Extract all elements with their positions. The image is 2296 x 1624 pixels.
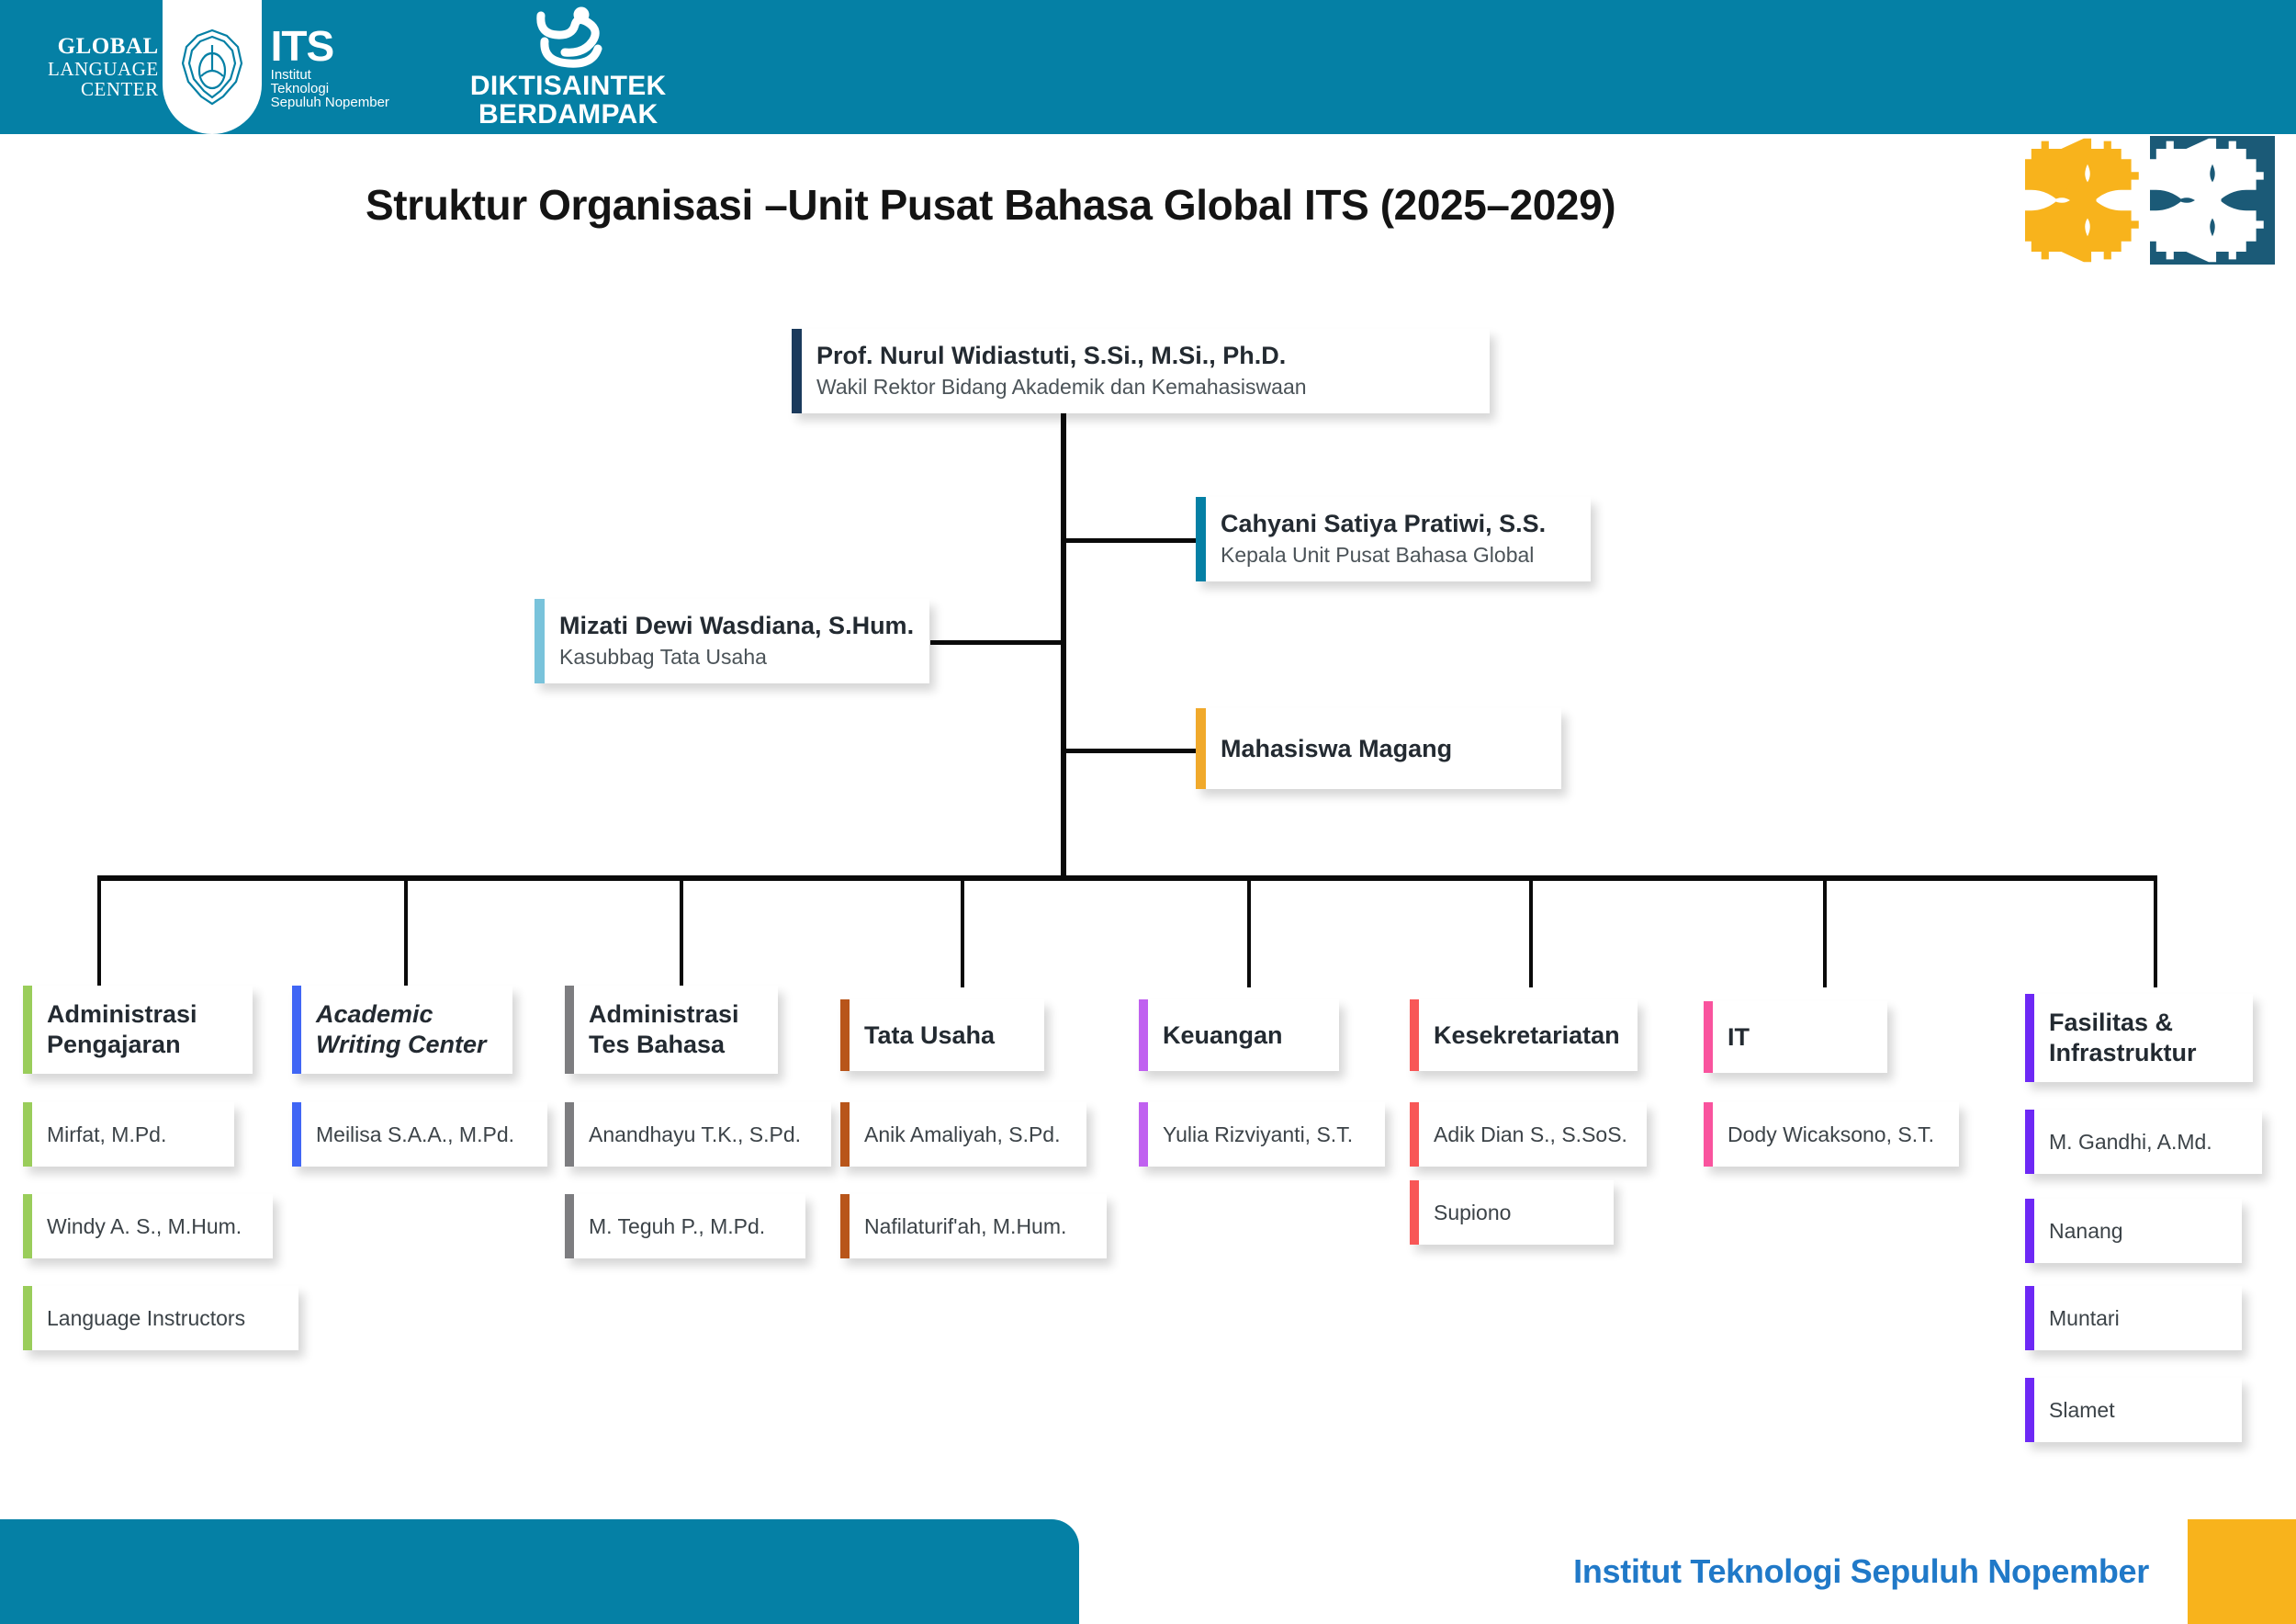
accent-bar [292, 986, 301, 1074]
division-title: Fasilitas & Infrastruktur [2049, 1008, 2240, 1068]
page-title: Struktur Organisasi –Unit Pusat Bahasa G… [366, 180, 1615, 230]
connector-drop-col-6 [1529, 875, 1533, 987]
division-header-administrasi-tes-bahasa[interactable]: Administrasi Tes Bahasa [565, 986, 778, 1074]
org-node-mahasiswa-magang[interactable]: Mahasiswa Magang [1196, 708, 1561, 789]
accent-bar [23, 1102, 32, 1167]
accent-bar [1139, 999, 1148, 1071]
accent-bar [840, 1194, 850, 1258]
ornament-tile-navy [2150, 136, 2275, 265]
accent-bar [535, 599, 545, 683]
division-member-item[interactable]: Language Instructors [23, 1286, 298, 1350]
accent-bar [1704, 1102, 1713, 1167]
accent-bar [23, 1194, 32, 1258]
division-member-item[interactable]: Anik Amaliyah, S.Pd. [840, 1102, 1086, 1167]
ornament-tile-yellow [2025, 136, 2150, 265]
footer-yellow-block [2188, 1519, 2296, 1624]
division-title: IT [1728, 1022, 1750, 1053]
member-name: Nafilaturif'ah, M.Hum. [864, 1213, 1066, 1240]
glc-logo-line3: CENTER [48, 79, 159, 99]
member-name: Slamet [2049, 1397, 2115, 1424]
its-logo-line2: Teknologi [271, 82, 389, 96]
accent-bar [565, 986, 574, 1074]
division-member-item[interactable]: M. Gandhi, A.Md. [2025, 1110, 2262, 1174]
accent-bar [23, 986, 32, 1074]
member-name: Supiono [1434, 1200, 1511, 1226]
division-title: Administrasi Tes Bahasa [589, 999, 765, 1060]
header-bar-right-extension [2002, 0, 2296, 134]
member-name: Meilisa S.A.A., M.Pd. [316, 1122, 514, 1148]
division-header-administrasi-pengajaran[interactable]: Administrasi Pengajaran [23, 986, 253, 1074]
division-member-item[interactable]: Adik Dian S., S.SoS. [1410, 1102, 1647, 1167]
footer-teal-band [0, 1519, 1079, 1624]
accent-bar [1139, 1102, 1148, 1167]
division-header-academic-writing-center[interactable]: Academic Writing Center [292, 986, 512, 1074]
org-node-role: Kepala Unit Pusat Bahasa Global [1221, 542, 1546, 570]
division-member-item[interactable]: Anandhayu T.K., S.Pd. [565, 1102, 831, 1167]
diktisaintek-line2: BERDAMPAK [470, 101, 667, 130]
division-member-item[interactable]: Meilisa S.A.A., M.Pd. [292, 1102, 547, 1167]
member-name: Language Instructors [47, 1305, 245, 1332]
accent-bar [2025, 1378, 2034, 1442]
decorative-ornament-tiles [2025, 136, 2275, 265]
connector-drop-col-5 [1247, 875, 1251, 987]
accent-bar [1410, 1180, 1419, 1245]
member-name: Anik Amaliyah, S.Pd. [864, 1122, 1061, 1148]
connector-branch-kepala [1066, 538, 1200, 543]
its-gear-emblem-icon [175, 25, 249, 109]
connector-drop-col-4 [961, 875, 964, 987]
division-title: Keuangan [1163, 1021, 1283, 1051]
division-member-item[interactable]: Yulia Rizviyanti, S.T. [1139, 1102, 1385, 1167]
member-name: Windy A. S., M.Hum. [47, 1213, 242, 1240]
slide-canvas: GLOBAL LANGUAGE CENTER ITS [0, 0, 2296, 1624]
accent-bar [2025, 1286, 2034, 1350]
accent-bar [1196, 708, 1206, 789]
division-member-item[interactable]: Nafilaturif'ah, M.Hum. [840, 1194, 1107, 1258]
division-member-item[interactable]: Supiono [1410, 1180, 1614, 1245]
connector-drop-col-8 [2154, 875, 2157, 987]
accent-bar [1410, 1102, 1419, 1167]
org-node-kasubbag-tata-usaha[interactable]: Mizati Dewi Wasdiana, S.Hum. Kasubbag Ta… [535, 599, 929, 683]
connector-drop-col-1 [97, 875, 101, 987]
org-node-name: Mizati Dewi Wasdiana, S.Hum. [559, 611, 914, 641]
accent-bar [840, 1102, 850, 1167]
org-node-role: Kasubbag Tata Usaha [559, 644, 914, 671]
connector-trunk-vertical [1061, 413, 1066, 880]
accent-bar [792, 329, 802, 413]
accent-bar [1196, 497, 1206, 581]
member-name: Yulia Rizviyanti, S.T. [1163, 1122, 1353, 1148]
accent-bar [1410, 999, 1419, 1071]
member-name: Adik Dian S., S.SoS. [1434, 1122, 1627, 1148]
its-logo-line3: Sepuluh Nopember [271, 96, 389, 109]
its-emblem-plate [163, 0, 262, 134]
division-member-item[interactable]: M. Teguh P., M.Pd. [565, 1194, 805, 1258]
glc-logo-line1: GLOBAL [48, 35, 159, 60]
division-member-item[interactable]: Windy A. S., M.Hum. [23, 1194, 273, 1258]
division-member-item[interactable]: Nanang [2025, 1199, 2242, 1263]
member-name: Nanang [2049, 1218, 2123, 1245]
member-name: M. Teguh P., M.Pd. [589, 1213, 765, 1240]
header-logos: GLOBAL LANGUAGE CENTER ITS [0, 0, 667, 134]
diktisaintek-figure-icon [524, 5, 613, 69]
glc-logo-line2: LANGUAGE [48, 59, 159, 79]
accent-bar [23, 1286, 32, 1350]
division-title: Tata Usaha [864, 1021, 995, 1051]
accent-bar [840, 999, 850, 1071]
org-node-role: Wakil Rektor Bidang Akademik dan Kemahas… [816, 374, 1307, 401]
footer-institution-name: Institut Teknologi Sepuluh Nopember [1573, 1552, 2149, 1591]
diktisaintek-logo: DIKTISAINTEK BERDAMPAK [470, 5, 667, 130]
connector-branch-magang [1066, 749, 1200, 753]
member-name: Anandhayu T.K., S.Pd. [589, 1122, 801, 1148]
accent-bar [2025, 994, 2034, 1082]
connector-drop-col-2 [404, 875, 408, 987]
accent-bar [2025, 1199, 2034, 1263]
org-node-name: Prof. Nurul Widiastuti, S.Si., M.Si., Ph… [816, 341, 1307, 371]
accent-bar [565, 1102, 574, 1167]
division-header-fasilitas-infrastruktur[interactable]: Fasilitas & Infrastruktur [2025, 994, 2253, 1082]
division-member-item[interactable]: Mirfat, M.Pd. [23, 1102, 234, 1167]
accent-bar [292, 1102, 301, 1167]
division-member-item[interactable]: Dody Wicaksono, S.T. [1704, 1102, 1959, 1167]
its-acronym: ITS [271, 25, 389, 68]
org-node-root[interactable]: Prof. Nurul Widiastuti, S.Si., M.Si., Ph… [792, 329, 1490, 413]
member-name: Dody Wicaksono, S.T. [1728, 1122, 1934, 1148]
accent-bar [1704, 1001, 1713, 1073]
global-language-center-logo: GLOBAL LANGUAGE CENTER ITS [48, 0, 389, 134]
accent-bar [2025, 1110, 2034, 1174]
member-name: Mirfat, M.Pd. [47, 1122, 166, 1148]
org-node-name: Mahasiswa Magang [1221, 734, 1452, 764]
division-title: Academic Writing Center [316, 999, 500, 1060]
division-header-it[interactable]: IT [1704, 1001, 1887, 1073]
diktisaintek-line1: DIKTISAINTEK [470, 73, 667, 101]
connector-drop-col-7 [1823, 875, 1827, 987]
division-header-tata-usaha[interactable]: Tata Usaha [840, 999, 1044, 1071]
accent-bar [565, 1194, 574, 1258]
connector-drop-col-3 [680, 875, 683, 987]
member-name: M. Gandhi, A.Md. [2049, 1129, 2212, 1156]
member-name: Muntari [2049, 1305, 2120, 1332]
org-node-name: Cahyani Satiya Pratiwi, S.S. [1221, 509, 1546, 539]
connector-branch-kasubbag [930, 640, 1063, 645]
its-logo-line1: Institut [271, 68, 389, 82]
org-node-kepala-unit[interactable]: Cahyani Satiya Pratiwi, S.S. Kepala Unit… [1196, 497, 1591, 581]
division-member-item[interactable]: Slamet [2025, 1378, 2242, 1442]
division-title: Kesekretariatan [1434, 1021, 1620, 1051]
division-title: Administrasi Pengajaran [47, 999, 240, 1060]
division-member-item[interactable]: Muntari [2025, 1286, 2242, 1350]
division-header-kesekretariatan[interactable]: Kesekretariatan [1410, 999, 1638, 1071]
division-header-keuangan[interactable]: Keuangan [1139, 999, 1339, 1071]
